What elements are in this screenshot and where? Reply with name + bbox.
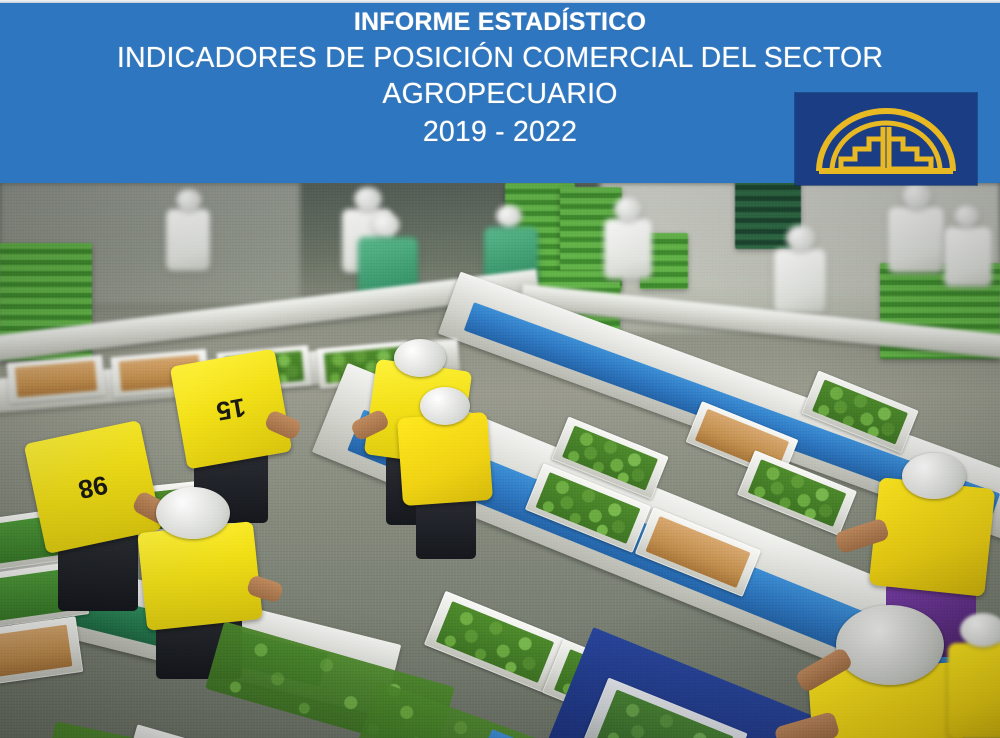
vest-number-15 [170, 349, 292, 470]
background-worker [598, 197, 662, 283]
stepped-arch-logo-icon [795, 93, 977, 185]
report-cover-page: INFORME ESTADÍSTICO INDICADORES DE POSIC… [0, 0, 1000, 738]
page-title-line-3: AGROPECUARIO [382, 79, 617, 109]
top-hairline [0, 0, 1000, 3]
background-worker [160, 187, 220, 279]
hairnet-icon [836, 605, 944, 685]
background-worker [766, 223, 836, 319]
cover-photo [0, 183, 1000, 738]
worker-right-edge [944, 613, 1000, 738]
institution-logo [795, 93, 977, 185]
header-banner: INFORME ESTADÍSTICO INDICADORES DE POSIC… [0, 3, 1000, 183]
page-title-line-4: 2019 - 2022 [423, 117, 577, 147]
produce-crate [6, 355, 105, 403]
background-worker [940, 203, 1000, 293]
worker-right-upper [392, 389, 502, 559]
page-title-line-2: INDICADORES DE POSICIÓN COMERCIAL DEL SE… [117, 43, 883, 73]
page-title-line-1: INFORME ESTADÍSTICO [354, 9, 646, 36]
